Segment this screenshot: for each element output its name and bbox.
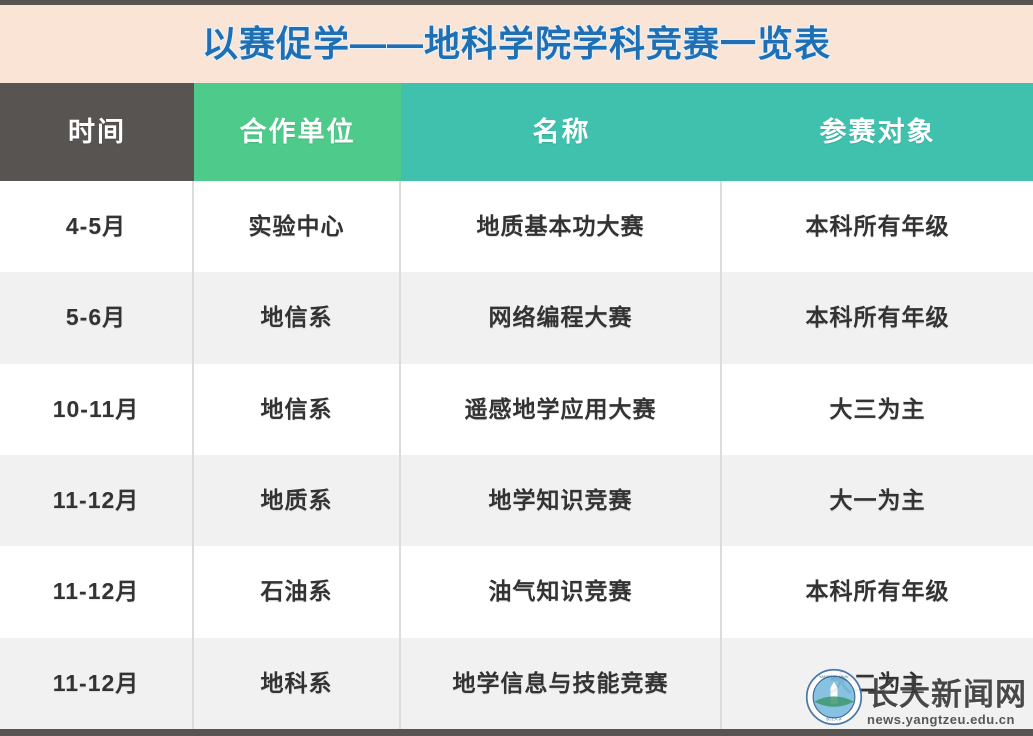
competition-table: 时间 合作单位 名称 参赛对象 4-5月 实验中心 地质基本功大赛 (0, 83, 1033, 729)
title-banner: 以赛促学——地科学院学科竞赛一览表 (0, 5, 1033, 83)
cell-time: 5-6月 (0, 272, 194, 363)
cell-time: 11-12月 (0, 455, 194, 546)
cell-unit: 石油系 (194, 546, 401, 637)
table-row: 10-11月 地信系 遥感地学应用大赛 大三为主 (0, 364, 1033, 455)
bottom-edge-bar (0, 729, 1033, 736)
cell-time: 11-12月 (0, 638, 194, 729)
table-header-row: 时间 合作单位 名称 参赛对象 (0, 83, 1033, 181)
table-row: 11-12月 地科系 地学信息与技能竞赛 大二为主 (0, 638, 1033, 729)
cell-time-label: 5-6月 (66, 306, 126, 329)
cell-unit-label: 实验中心 (249, 215, 345, 238)
cell-time: 11-12月 (0, 546, 194, 637)
cell-audience-label: 大三为主 (830, 398, 926, 421)
cell-audience-label: 本科所有年级 (806, 580, 950, 603)
cell-name-label: 油气知识竞赛 (489, 580, 633, 603)
cell-audience: 本科所有年级 (722, 181, 1033, 272)
cell-unit: 实验中心 (194, 181, 401, 272)
table-row: 11-12月 地质系 地学知识竞赛 大一为主 (0, 455, 1033, 546)
column-header-time: 时间 (0, 83, 194, 181)
table-row: 11-12月 石油系 油气知识竞赛 本科所有年级 (0, 546, 1033, 637)
cell-name: 地学信息与技能竞赛 (401, 638, 722, 729)
page-title: 以赛促学——地科学院学科竞赛一览表 (202, 26, 831, 62)
cell-name-label: 地学知识竞赛 (489, 489, 633, 512)
cell-time-label: 11-12月 (53, 489, 140, 512)
cell-name: 油气知识竞赛 (401, 546, 722, 637)
cell-audience: 大一为主 (722, 455, 1033, 546)
cell-unit: 地科系 (194, 638, 401, 729)
column-header-name-label: 名称 (533, 119, 591, 146)
column-header-audience-label: 参赛对象 (820, 119, 936, 146)
cell-unit-label: 石油系 (261, 580, 333, 603)
cell-unit: 地信系 (194, 272, 401, 363)
cell-audience: 大三为主 (722, 364, 1033, 455)
table-row: 5-6月 地信系 网络编程大赛 本科所有年级 (0, 272, 1033, 363)
cell-name: 遥感地学应用大赛 (401, 364, 722, 455)
cell-name: 地学知识竞赛 (401, 455, 722, 546)
cell-time-label: 11-12月 (53, 672, 140, 695)
column-header-unit-label: 合作单位 (240, 119, 356, 146)
cell-unit-label: 地信系 (261, 398, 333, 421)
cell-audience: 大二为主 (722, 638, 1033, 729)
column-header-name: 名称 (401, 83, 722, 181)
cell-unit: 地信系 (194, 364, 401, 455)
column-header-unit: 合作单位 (194, 83, 401, 181)
cell-name-label: 地质基本功大赛 (477, 215, 645, 238)
table-row: 4-5月 实验中心 地质基本功大赛 本科所有年级 (0, 181, 1033, 272)
cell-time: 10-11月 (0, 364, 194, 455)
cell-name: 网络编程大赛 (401, 272, 722, 363)
cell-time-label: 11-12月 (53, 580, 140, 603)
cell-name-label: 网络编程大赛 (489, 306, 633, 329)
cell-unit: 地质系 (194, 455, 401, 546)
cell-audience-label: 本科所有年级 (806, 306, 950, 329)
cell-audience: 本科所有年级 (722, 272, 1033, 363)
cell-time-label: 4-5月 (66, 215, 126, 238)
screenshot-root: 以赛促学——地科学院学科竞赛一览表 时间 合作单位 名称 参赛对象 4-5月 实… (0, 0, 1033, 736)
cell-audience-label: 大二为主 (830, 672, 926, 695)
column-header-audience: 参赛对象 (722, 83, 1033, 181)
cell-audience-label: 大一为主 (830, 489, 926, 512)
cell-name-label: 地学信息与技能竞赛 (453, 672, 669, 695)
cell-audience-label: 本科所有年级 (806, 215, 950, 238)
cell-unit-label: 地质系 (261, 489, 333, 512)
cell-audience: 本科所有年级 (722, 546, 1033, 637)
cell-time-label: 10-11月 (53, 398, 140, 421)
cell-name-label: 遥感地学应用大赛 (465, 398, 657, 421)
cell-name: 地质基本功大赛 (401, 181, 722, 272)
cell-unit-label: 地科系 (261, 672, 333, 695)
column-header-time-label: 时间 (68, 119, 126, 146)
cell-time: 4-5月 (0, 181, 194, 272)
cell-unit-label: 地信系 (261, 306, 333, 329)
